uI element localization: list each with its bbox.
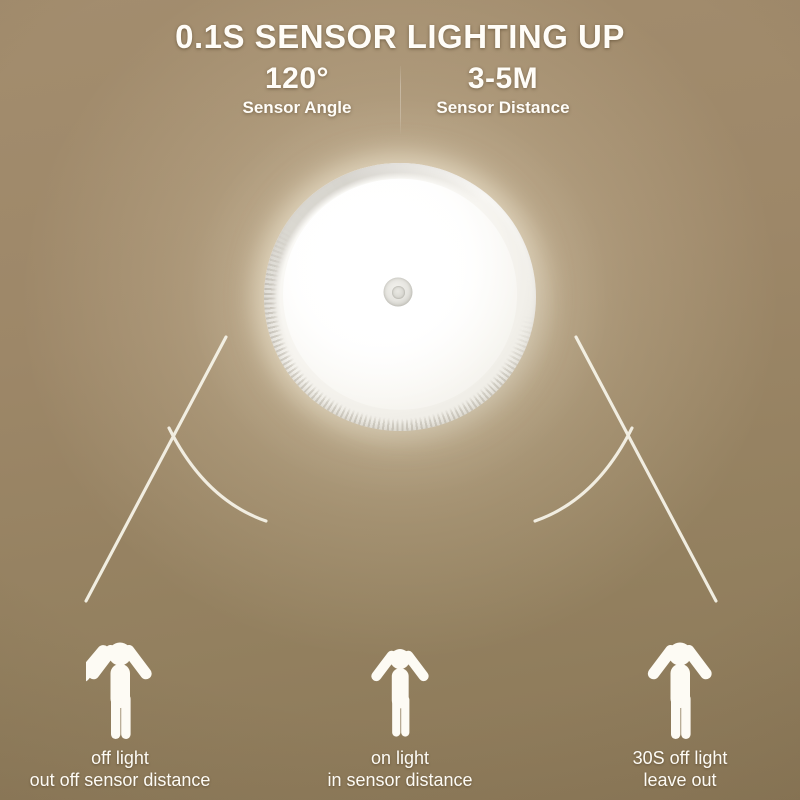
scenario-center-caption-line1: on light [371, 748, 429, 768]
page-title: 0.1S SENSOR LIGHTING UP [0, 18, 800, 56]
scenario-row: off light out off sensor distance on lig… [0, 600, 800, 800]
person-arms-raised-icon [646, 637, 714, 741]
scenario-left-caption-line1: off light [91, 748, 149, 768]
person-arms-raised-icon [86, 637, 154, 741]
spec-sensor-distance-value: 3-5M [401, 62, 606, 96]
spec-sensor-angle-label: Sensor Angle [195, 97, 400, 119]
spec-sensor-distance: 3-5M Sensor Distance [401, 62, 606, 119]
spec-sensor-angle-value: 120° [195, 62, 400, 96]
person-arms-raised-icon [369, 641, 431, 741]
scenario-left-caption: off light out off sensor distance [0, 748, 240, 792]
spec-sensor-angle: 120° Sensor Angle [195, 62, 400, 119]
scenario-left: off light out off sensor distance [0, 637, 240, 792]
scenario-right-caption-line1: 30S off light [633, 748, 728, 768]
sensor-light-infographic: 0.1S SENSOR LIGHTING UP 120° Sensor Angl… [0, 0, 800, 800]
scenario-right: 30S off light leave out [560, 637, 800, 792]
scenario-center-caption: on light in sensor distance [280, 748, 520, 792]
scenario-center: on light in sensor distance [280, 641, 520, 792]
scenario-right-caption: 30S off light leave out [560, 748, 800, 792]
scenario-center-caption-line2: in sensor distance [280, 770, 520, 792]
spec-sensor-distance-label: Sensor Distance [401, 97, 606, 119]
scenario-right-caption-line2: leave out [560, 770, 800, 792]
spec-stats-row: 120° Sensor Angle 3-5M Sensor Distance [0, 62, 800, 134]
scenario-left-caption-line2: out off sensor distance [0, 770, 240, 792]
pir-sensor-dome [384, 278, 413, 307]
